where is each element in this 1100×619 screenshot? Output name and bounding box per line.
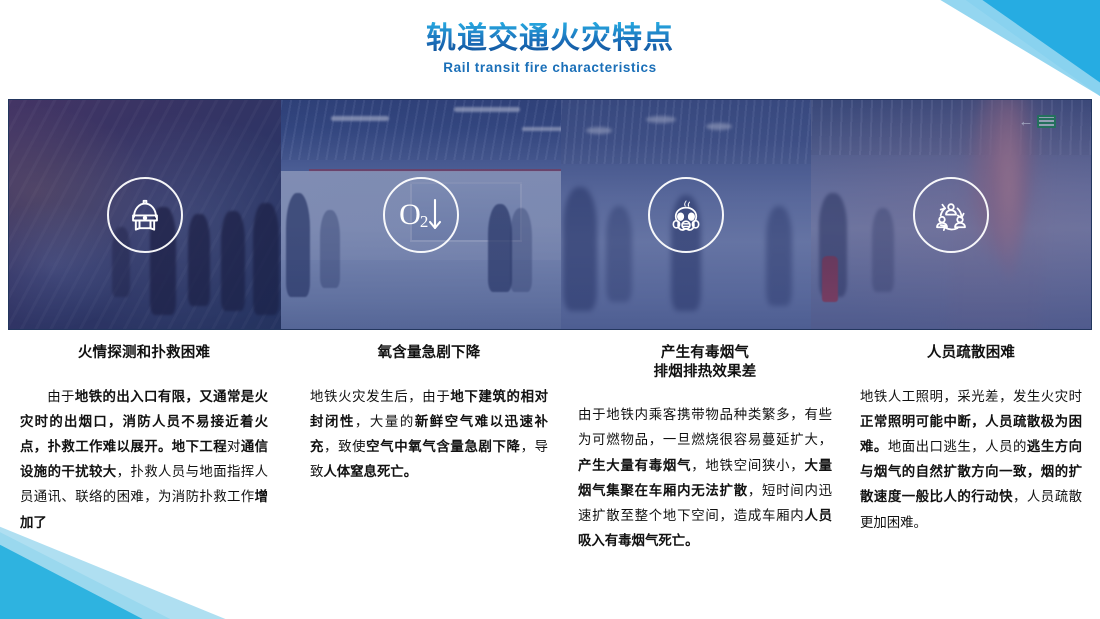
column-evacuation: 人员疏散困难 地铁人工照明，采光差，发生火灾时正常照明可能中断，人员疏散极为困难… bbox=[858, 344, 1084, 602]
hero-panel-4: ← bbox=[811, 100, 1091, 329]
column-4-body: 地铁人工照明，采光差，发生火灾时正常照明可能中断，人员疏散极为困难。地面出口逃生… bbox=[858, 384, 1084, 535]
hero-image-strip: O2 bbox=[8, 99, 1092, 330]
column-1-body: 由于地铁的出入口有限，又通常是火灾时的出烟口，消防人员不易接近着火点，扑救工作难… bbox=[8, 384, 280, 535]
column-3-title: 产生有毒烟气排烟排热效果差 bbox=[574, 344, 836, 381]
page-title: 轨道交通火灾特点 bbox=[0, 22, 1100, 56]
oxygen-decreasing-icon: O2 bbox=[383, 177, 459, 253]
firefighter-helmet-icon bbox=[107, 177, 183, 253]
column-3-body: 由于地铁内乘客携带物品种类繁多，有些为可燃物品，一旦燃烧很容易蔓延扩大，产生大量… bbox=[574, 402, 836, 553]
column-oxygen-drop: 氧含量急剧下降 地铁火灾发生后，由于地下建筑的相对封闭性，大量的新鲜空气难以迅速… bbox=[304, 344, 554, 602]
column-4-title: 人员疏散困难 bbox=[858, 344, 1084, 363]
column-2-body: 地铁火灾发生后，由于地下建筑的相对封闭性，大量的新鲜空气难以迅速补充，致使空气中… bbox=[304, 384, 554, 485]
content-columns: 火情探测和扑救困难 由于地铁的出入口有限，又通常是火灾时的出烟口，消防人员不易接… bbox=[0, 344, 1100, 602]
page-subtitle: Rail transit fire characteristics bbox=[0, 60, 1100, 75]
gas-mask-icon bbox=[648, 177, 724, 253]
column-2-title: 氧含量急剧下降 bbox=[304, 344, 554, 363]
hero-panel-1 bbox=[9, 100, 281, 329]
hero-panel-3 bbox=[561, 100, 811, 329]
slide-root: 轨道交通火灾特点 Rail transit fire characteristi… bbox=[0, 0, 1100, 619]
column-fire-detection: 火情探测和扑救困难 由于地铁的出入口有限，又通常是火灾时的出烟口，消防人员不易接… bbox=[8, 344, 280, 602]
hero-panel-2: O2 bbox=[281, 100, 561, 329]
column-toxic-smoke: 产生有毒烟气排烟排热效果差 由于地铁内乘客携带物品种类繁多，有些为可燃物品，一旦… bbox=[574, 344, 836, 602]
slide-title-block: 轨道交通火灾特点 Rail transit fire characteristi… bbox=[0, 22, 1100, 75]
people-evacuation-cycle-icon bbox=[913, 177, 989, 253]
column-1-title: 火情探测和扑救困难 bbox=[8, 344, 280, 363]
